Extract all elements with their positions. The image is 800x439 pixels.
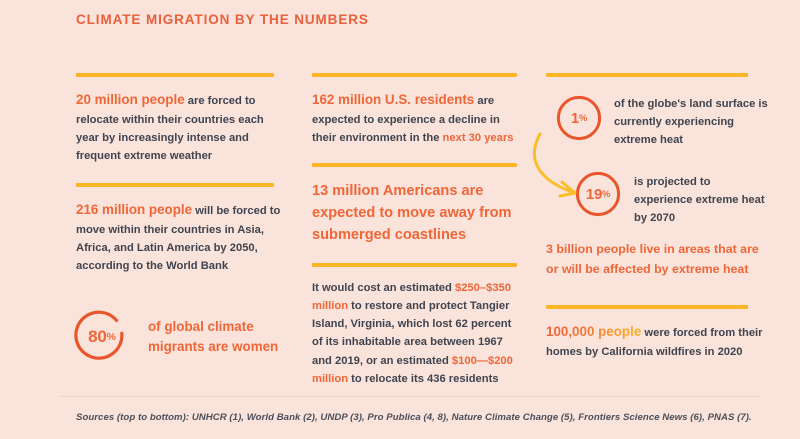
curved-arrow-icon bbox=[520, 120, 630, 215]
divider-bar-col2-3 bbox=[312, 263, 517, 267]
divider-bar-col1-2 bbox=[76, 183, 274, 187]
tangier-text-part-1: It would cost an estimated bbox=[312, 282, 455, 294]
stat-highlight-next-30-years: next 30 years bbox=[443, 132, 514, 144]
stat-highlight-20-million: 20 million people bbox=[76, 92, 185, 107]
stat-block-100000-people: 100,000 people were forced from their ho… bbox=[546, 321, 768, 361]
divider-bar-col2-1 bbox=[312, 73, 517, 77]
footer-divider bbox=[60, 396, 760, 397]
statement-3-billion: 3 billion people live in areas that are … bbox=[546, 240, 772, 279]
circle-80-percent-text: of global climate migrants are women bbox=[148, 317, 288, 357]
sources-note: Sources (top to bottom): UNHCR (1), Worl… bbox=[76, 412, 752, 423]
stat-block-20-million: 20 million people are forced to relocate… bbox=[76, 89, 281, 165]
stat-highlight-100000-people: 100,000 people bbox=[546, 324, 641, 339]
stat-highlight-216-million: 216 million people bbox=[76, 202, 192, 217]
divider-bar-col1-1 bbox=[76, 73, 274, 77]
circle-1-percent-text: of the globe's land surface is currently… bbox=[614, 95, 768, 149]
infographic-canvas: CLIMATE MIGRATION BY THE NUMBERS 20 mill… bbox=[0, 0, 800, 439]
column-2: 162 million U.S. residents are expected … bbox=[312, 0, 524, 439]
column-3: 1% of the globe's land surface is curren… bbox=[546, 0, 768, 439]
divider-bar-col2-2 bbox=[312, 163, 517, 167]
statement-13-million: 13 million Americans are expected to mov… bbox=[312, 180, 524, 247]
stat-highlight-162-million: 162 million U.S. residents bbox=[312, 92, 474, 107]
column-1: 20 million people are forced to relocate… bbox=[76, 0, 284, 439]
stat-block-162-million: 162 million U.S. residents are expected … bbox=[312, 89, 522, 147]
stat-block-tangier-island: It would cost an estimated $250–$350 mil… bbox=[312, 279, 520, 388]
divider-bar-col3-2 bbox=[546, 305, 748, 309]
circle-80-percent: 80% bbox=[72, 307, 132, 367]
divider-bar-col3-1 bbox=[546, 73, 748, 77]
stat-block-216-million: 216 million people will be forced to mov… bbox=[76, 199, 284, 275]
tangier-text-part-4: to relocate its 436 residents bbox=[348, 373, 498, 385]
circle-19-percent-text: is projected to experience extreme heat … bbox=[634, 173, 772, 227]
